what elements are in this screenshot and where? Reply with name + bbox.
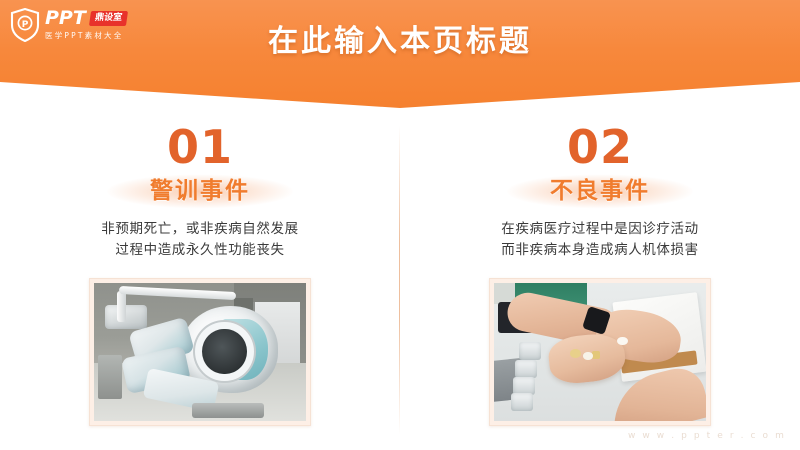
description-line: 非预期死亡，或非疾病自然发展: [101, 219, 298, 240]
watermark: w w w . p p t e r . c o m: [628, 431, 786, 441]
svg-text:P: P: [22, 20, 29, 30]
column-subtitle-wrap: 警训事件: [0, 171, 400, 205]
description-line: 在疾病医疗过程中是因诊疗活动: [501, 219, 698, 240]
column-02: 02 不良事件 在疾病医疗过程中是因诊疗活动 而非疾病本身造成病人机体损害: [400, 112, 800, 450]
column-subtitle: 警训事件: [150, 171, 250, 205]
column-description: 在疾病医疗过程中是因诊疗活动 而非疾病本身造成病人机体损害: [501, 219, 698, 261]
column-divider: [399, 125, 400, 435]
description-line: 而非疾病本身造成病人机体损害: [501, 240, 698, 261]
logo-brand-text: PPT: [45, 9, 86, 28]
photo-frame-01[interactable]: [89, 278, 311, 426]
ct-scanner-room-photo: [94, 283, 306, 421]
logo-tagline: 医学PPT素材大全: [45, 30, 127, 41]
description-line: 过程中造成永久性功能丧失: [101, 240, 298, 261]
slide: P PPT 鼎设室 医学PPT素材大全 在此输入本页标题 01 警训事件 非预期…: [0, 0, 800, 450]
photo-frame-02[interactable]: [489, 278, 711, 426]
column-number: 01: [167, 121, 233, 173]
shield-icon: P: [10, 8, 40, 42]
column-subtitle-wrap: 不良事件: [400, 171, 800, 205]
column-subtitle: 不良事件: [550, 171, 650, 205]
brand-logo[interactable]: P PPT 鼎设室 医学PPT素材大全: [10, 8, 127, 42]
column-number: 02: [567, 121, 633, 173]
hands-holding-pills-photo: [494, 283, 706, 421]
content-columns: 01 警训事件 非预期死亡，或非疾病自然发展 过程中造成永久性功能丧失: [0, 112, 800, 450]
column-01: 01 警训事件 非预期死亡，或非疾病自然发展 过程中造成永久性功能丧失: [0, 112, 400, 450]
column-description: 非预期死亡，或非疾病自然发展 过程中造成永久性功能丧失: [101, 219, 298, 261]
logo-badge: 鼎设室: [89, 11, 128, 26]
